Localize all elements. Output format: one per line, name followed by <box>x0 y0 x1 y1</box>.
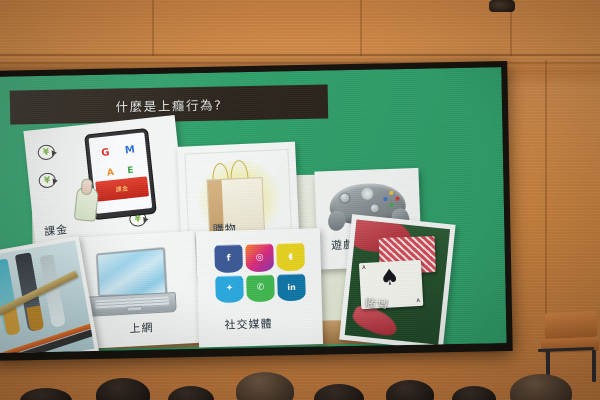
photograph-scene: 什麼是上癮行為? ¥ ¥ ¥ G M A <box>0 0 600 400</box>
ceiling-speaker-icon <box>489 0 515 12</box>
chair-leg <box>592 350 596 382</box>
wall-seam <box>0 62 600 64</box>
screen-scanlines <box>0 67 507 353</box>
chair-backrest <box>544 311 597 340</box>
screen-display-area: 什麼是上癮行為? ¥ ¥ ¥ G M A <box>0 67 507 353</box>
wall-seam-vertical <box>152 0 154 56</box>
wall-seam-vertical <box>360 0 362 56</box>
projection-screen: 什麼是上癮行為? ¥ ¥ ¥ G M A <box>0 61 513 361</box>
